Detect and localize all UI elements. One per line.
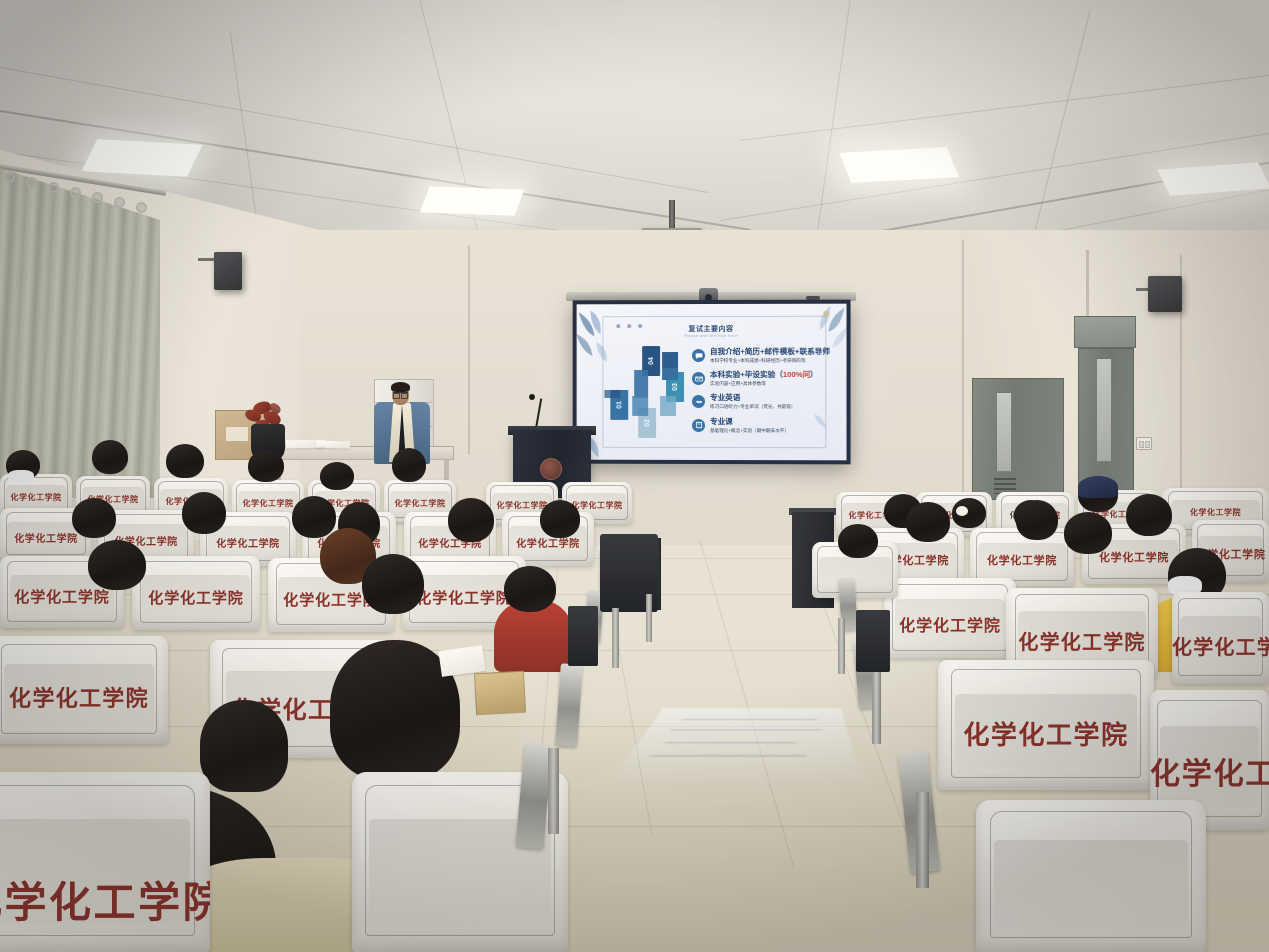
book-icon	[692, 419, 705, 432]
seat-label: 化学化工学院	[1006, 626, 1158, 655]
bullet-main-text: 专业英语	[710, 394, 820, 403]
bullet-main-text: 自我介绍+简历+邮件模板+联系导师	[710, 348, 830, 357]
seat[interactable]: 化学化工学院	[0, 772, 210, 952]
bullet-sub-text: 练习口语听力+专业单词（荧光、共轭等）	[710, 404, 820, 410]
handshake-icon	[692, 395, 705, 408]
slide-bullet-item: 本科实验+毕设实验（100%问） 实验内容+应用+具体参数等	[692, 371, 820, 387]
wall-speaker-right	[1148, 276, 1182, 312]
window-curtain[interactable]	[0, 168, 160, 498]
bullet-sub-text: 实验内容+应用+具体参数等	[710, 381, 820, 387]
seat[interactable]: 化学化工学院	[132, 556, 260, 630]
slide-bullet-item: 自我介绍+简历+邮件模板+联系导师 本科学校专业+本科成绩+科研经历+考研目的等	[692, 348, 820, 364]
seat[interactable]: 化学化工学院	[1172, 592, 1269, 684]
ceiling-light-panel	[420, 186, 524, 215]
seat[interactable]: 化学化工学院	[938, 660, 1154, 790]
bullet-sub-text: 基础理论+概念+实验（期中期末水平）	[710, 428, 820, 434]
slide-content: 复试主要内容 Please add the title here 01 02 0…	[577, 304, 847, 461]
slide-subtitle: Please add the title here	[577, 334, 847, 338]
seat-label: 化学化工学院	[200, 535, 296, 550]
door-transom	[1074, 316, 1136, 348]
slide-header: 复试主要内容 Please add the title here	[577, 326, 847, 338]
handout-papers	[316, 440, 350, 448]
seat-label: 化学化工学院	[502, 535, 594, 550]
slide-bullet-item: 专业英语 练习口语听力+专业单词（荧光、共轭等）	[692, 394, 820, 410]
seat-label: 化学化工学院	[1162, 507, 1269, 518]
seat[interactable]: 化学化工学院	[884, 578, 1016, 658]
seat[interactable]	[976, 800, 1206, 952]
projection-screen[interactable]: 复试主要内容 Please add the title here 01 02 0…	[573, 300, 851, 465]
seat-label: 化学化工学院	[970, 552, 1074, 568]
seat-label: 化学化工学院	[1172, 631, 1269, 660]
seat-label: 化学化工学院	[938, 715, 1154, 752]
lecture-hall-photo: 复试主要内容 Please add the title here 01 02 0…	[0, 0, 1269, 952]
seat-label: 化学化工学院	[0, 492, 72, 503]
envelope-icon	[692, 372, 705, 385]
seat-label: 化学化工学院	[0, 869, 210, 930]
seat-label: 化学化工学院	[0, 681, 168, 713]
ceiling-light-panel	[839, 147, 959, 183]
seat-label: 化学化工学院	[0, 586, 124, 607]
glasses-icon	[393, 392, 408, 396]
step-diagram: 01 02 03 04	[602, 350, 698, 442]
exit-door-left[interactable]	[972, 378, 1064, 500]
bullet-sub-text: 本科学校专业+本科成绩+科研经历+考研目的等	[710, 358, 830, 364]
seat-label: 化学化工学院	[884, 612, 1016, 636]
bullet-main-text: 本科实验+毕设实验（100%问）	[710, 371, 820, 380]
university-emblem	[540, 458, 562, 480]
bullet-main-text: 专业课	[710, 418, 820, 427]
speech-bubble-icon	[692, 349, 705, 362]
ceiling-light-panel	[82, 139, 203, 177]
microphone-icon	[529, 394, 535, 400]
seat-label: 化学化工学院	[1150, 749, 1269, 793]
slide-bullet-list: 自我介绍+简历+邮件模板+联系导师 本科学校专业+本科成绩+科研经历+考研目的等…	[692, 348, 820, 441]
seat-label: 化学化工学院	[132, 587, 260, 608]
notebook	[474, 671, 526, 716]
seat[interactable]: 化学化工学院	[0, 636, 168, 744]
slide-bullet-item: 专业课 基础理论+概念+实验（期中期末水平）	[692, 418, 820, 434]
seat-label: 化学化工学院	[384, 498, 456, 509]
wall-speaker-left	[214, 252, 242, 290]
presenter-hair	[391, 382, 410, 392]
light-switch-panel[interactable]	[1136, 437, 1152, 450]
